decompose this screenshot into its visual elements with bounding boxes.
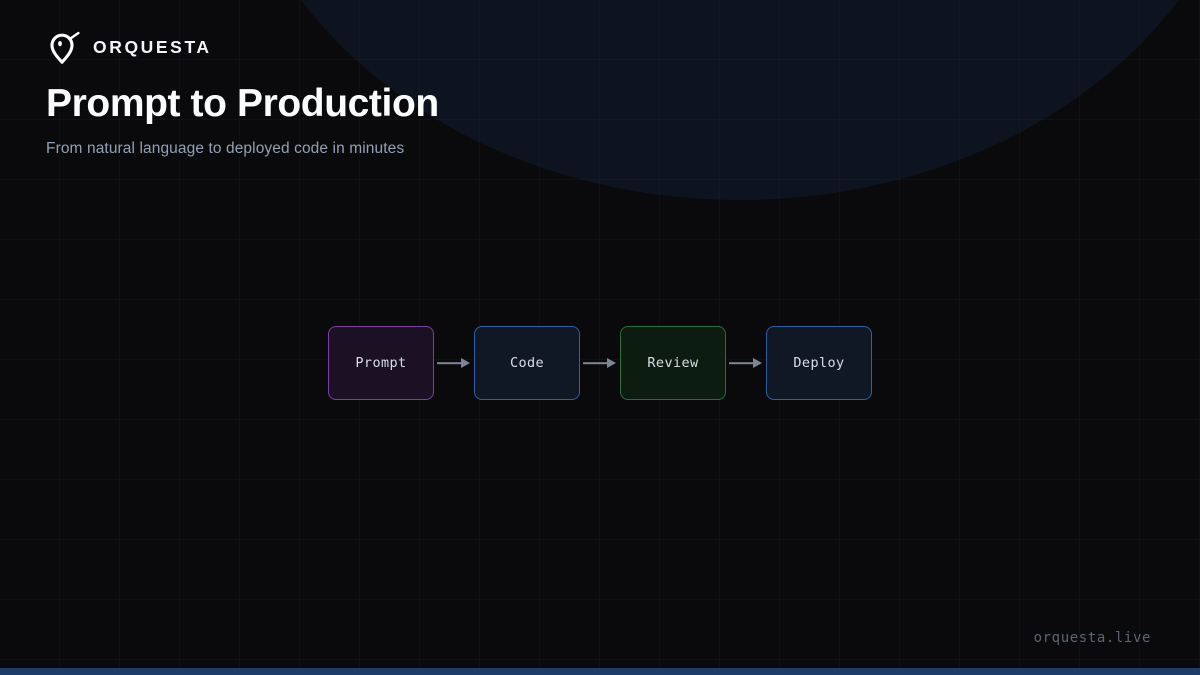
pipeline-node-label: Code: [510, 355, 544, 371]
arrow-right-icon: [434, 358, 474, 368]
arrow-shaft: [437, 362, 463, 364]
brand-name: ORQUESTA: [93, 39, 212, 57]
arrow-shaft: [729, 362, 755, 364]
arrow-right-icon: [726, 358, 766, 368]
bottom-accent-bar: [0, 668, 1200, 675]
arrow-head: [753, 358, 762, 368]
footer-url: orquesta.live: [1034, 630, 1151, 646]
location-pin-icon: [46, 30, 80, 66]
pipeline-flow: Prompt Code Review Deploy: [0, 326, 1200, 400]
pipeline-node-label: Review: [647, 355, 698, 371]
pipeline-node-label: Deploy: [793, 355, 844, 371]
arrow-shaft: [583, 362, 609, 364]
pipeline-node-prompt[interactable]: Prompt: [328, 326, 434, 400]
page-subtitle: From natural language to deployed code i…: [46, 140, 404, 158]
pipeline-node-label: Prompt: [355, 355, 406, 371]
page-title: Prompt to Production: [46, 82, 439, 126]
brand-lockup: ORQUESTA: [46, 30, 212, 66]
arrow-right-icon: [580, 358, 620, 368]
pipeline-node-review[interactable]: Review: [620, 326, 726, 400]
slide-canvas: ORQUESTA Prompt to Production From natur…: [0, 0, 1200, 675]
pipeline-node-deploy[interactable]: Deploy: [766, 326, 872, 400]
arrow-head: [461, 358, 470, 368]
arrow-head: [607, 358, 616, 368]
pipeline-node-code[interactable]: Code: [474, 326, 580, 400]
